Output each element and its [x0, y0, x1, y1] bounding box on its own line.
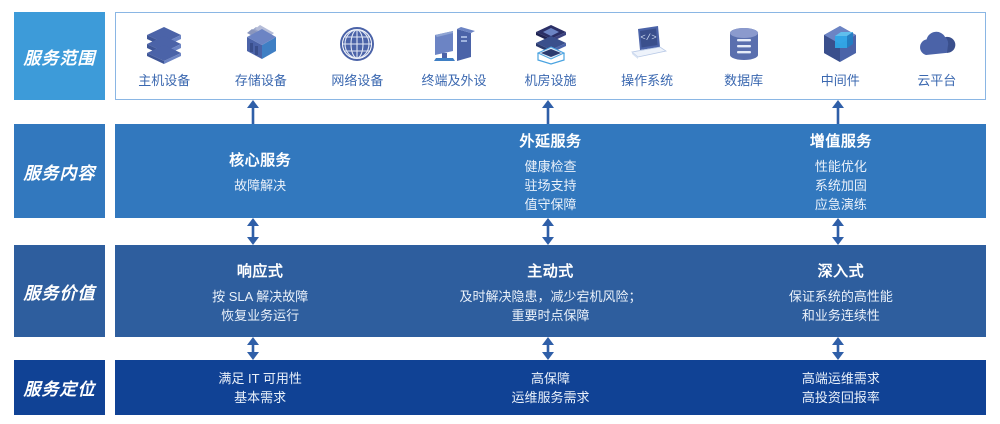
scope-item-label: 机房设施 — [525, 70, 577, 89]
scope-item-label: 网络设备 — [331, 70, 383, 89]
arrow-value-to-position-left — [243, 337, 263, 360]
row-label-text: 服务定位 — [24, 375, 96, 400]
scope-item-label: 操作系统 — [621, 70, 673, 89]
desktop-pc-icon — [431, 23, 477, 65]
arrow-content-to-value-right — [828, 218, 848, 245]
svg-text:</>: </> — [640, 33, 656, 43]
scope-item-label: 主机设备 — [138, 70, 190, 89]
row-label-service-positioning: 服务定位 — [14, 360, 105, 415]
column-line: 健康检查 — [524, 157, 576, 176]
row-label-text: 服务范围 — [24, 44, 96, 69]
cloud-icon — [914, 23, 960, 65]
arrow-value-to-position-center — [538, 337, 558, 360]
column-line: 恢复业务运行 — [221, 306, 299, 325]
scope-item-label: 云平台 — [917, 70, 956, 89]
service-framework-diagram: 服务范围 — [0, 0, 1000, 424]
column-line: 驻场支持 — [524, 176, 576, 195]
service-positioning-basic[interactable]: 满足 IT 可用性 基本需求 — [115, 360, 405, 415]
scope-item-label: 数据库 — [724, 70, 763, 89]
column-title: 响应式 — [237, 260, 284, 281]
column-line: 性能优化 — [815, 157, 867, 176]
scope-item-network-equipment[interactable]: 网络设备 — [309, 23, 406, 89]
server-stack-icon — [141, 23, 187, 65]
laptop-code-icon: </> — [624, 23, 670, 65]
scope-item-cloud-platform[interactable]: 云平台 — [889, 23, 986, 89]
service-value-grid: 响应式 按 SLA 解决故障 恢复业务运行 主动式 及时解决隐患，减少宕机风险；… — [115, 245, 986, 337]
globe-network-icon — [334, 23, 380, 65]
service-value-reactive[interactable]: 响应式 按 SLA 解决故障 恢复业务运行 — [115, 245, 405, 337]
service-content-value-added[interactable]: 增值服务 性能优化 系统加固 应急演练 — [696, 124, 986, 218]
scope-item-grid: 主机设备 — [116, 13, 985, 99]
arrow-value-to-position-right — [828, 337, 848, 360]
arrow-scope-to-content-left — [243, 100, 263, 124]
service-positioning-grid: 满足 IT 可用性 基本需求 高保障 运维服务需求 高端运维需求 高投资回报率 — [115, 360, 986, 415]
service-positioning-assured[interactable]: 高保障 运维服务需求 — [405, 360, 695, 415]
arrow-scope-to-content-center — [538, 100, 558, 124]
service-content-panel: 核心服务 故障解决 外延服务 健康检查 驻场支持 值守保障 增值服务 性能优化 … — [115, 124, 986, 218]
scope-item-host-equipment[interactable]: 主机设备 — [116, 23, 213, 89]
service-content-grid: 核心服务 故障解决 外延服务 健康检查 驻场支持 值守保障 增值服务 性能优化 … — [115, 124, 986, 218]
storage-array-icon — [238, 23, 284, 65]
row-label-service-value: 服务价值 — [14, 245, 105, 337]
service-value-proactive[interactable]: 主动式 及时解决隐患，减少宕机风险； 重要时点保障 — [405, 245, 695, 337]
scope-item-operating-system[interactable]: </> 操作系统 — [599, 23, 696, 89]
column-line: 基本需求 — [234, 388, 286, 407]
column-line: 故障解决 — [234, 176, 286, 195]
database-cylinder-icon — [721, 23, 767, 65]
service-positioning-advanced[interactable]: 高端运维需求 高投资回报率 — [696, 360, 986, 415]
column-line: 高投资回报率 — [802, 388, 880, 407]
scope-item-terminal-peripherals[interactable]: 终端及外设 — [406, 23, 503, 89]
column-line: 运维服务需求 — [511, 388, 589, 407]
column-title: 外延服务 — [519, 130, 581, 151]
cube-middleware-icon — [817, 23, 863, 65]
arrow-scope-to-content-right — [828, 100, 848, 124]
scope-item-label: 终端及外设 — [421, 70, 486, 89]
row-label-service-content: 服务内容 — [14, 124, 105, 218]
column-line: 应急演练 — [815, 195, 867, 214]
column-title: 深入式 — [818, 260, 865, 281]
column-line: 按 SLA 解决故障 — [212, 287, 308, 306]
service-scope-panel: 主机设备 — [115, 12, 986, 100]
scope-item-datacenter-facility[interactable]: 机房设施 — [502, 23, 599, 89]
service-positioning-panel: 满足 IT 可用性 基本需求 高保障 运维服务需求 高端运维需求 高投资回报率 — [115, 360, 986, 415]
row-label-text: 服务价值 — [24, 279, 96, 304]
column-line: 值守保障 — [524, 195, 576, 214]
service-content-core[interactable]: 核心服务 故障解决 — [115, 124, 405, 218]
column-line: 系统加固 — [815, 176, 867, 195]
data-center-facility-icon — [528, 23, 574, 65]
arrow-content-to-value-left — [243, 218, 263, 245]
scope-item-label: 中间件 — [821, 70, 860, 89]
column-line: 保证系统的高性能 — [789, 287, 893, 306]
column-line: 高保障 — [531, 369, 570, 388]
scope-item-storage-equipment[interactable]: 存储设备 — [213, 23, 310, 89]
column-title: 主动式 — [527, 260, 574, 281]
column-title: 增值服务 — [810, 130, 872, 151]
column-title: 核心服务 — [229, 149, 291, 170]
scope-item-database[interactable]: 数据库 — [695, 23, 792, 89]
service-value-indepth[interactable]: 深入式 保证系统的高性能 和业务连续性 — [696, 245, 986, 337]
row-label-text: 服务内容 — [24, 159, 96, 184]
column-line: 及时解决隐患，减少宕机风险； — [459, 287, 641, 306]
scope-item-middleware[interactable]: 中间件 — [792, 23, 889, 89]
scope-item-label: 存储设备 — [235, 70, 287, 89]
arrow-content-to-value-center — [538, 218, 558, 245]
column-line: 满足 IT 可用性 — [218, 369, 302, 388]
row-label-service-scope: 服务范围 — [14, 12, 105, 100]
service-content-extended[interactable]: 外延服务 健康检查 驻场支持 值守保障 — [405, 124, 695, 218]
column-line: 和业务连续性 — [802, 306, 880, 325]
column-line: 高端运维需求 — [802, 369, 880, 388]
service-value-panel: 响应式 按 SLA 解决故障 恢复业务运行 主动式 及时解决隐患，减少宕机风险；… — [115, 245, 986, 337]
column-line: 重要时点保障 — [511, 306, 589, 325]
